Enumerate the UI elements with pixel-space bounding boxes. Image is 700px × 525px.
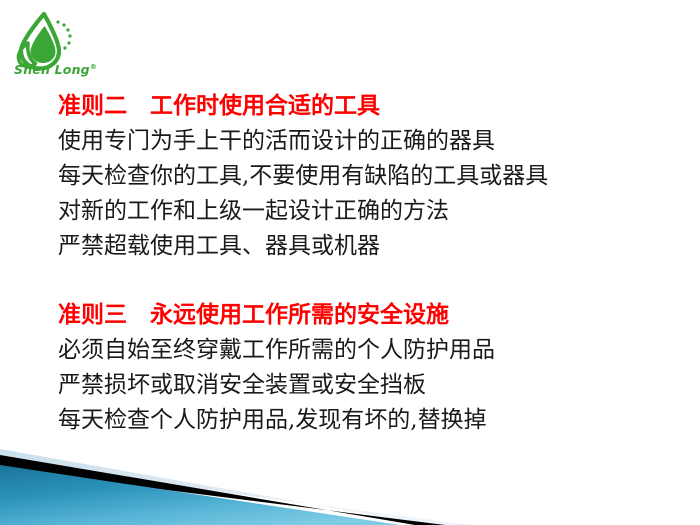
logo: Shen Long®: [8, 10, 90, 82]
diagonal-ribbon-decoration-icon: [0, 435, 700, 525]
slide-body: 准则二 工作时使用合适的工具 使用专门为手上干的活而设计的正确的器具 每天检查你…: [58, 88, 688, 438]
rule-line: 每天检查个人防护用品,发现有坏的,替换掉: [58, 403, 688, 438]
rule-heading-two: 准则二 工作时使用合适的工具: [58, 88, 688, 124]
logo-wordmark: Shen Long®: [14, 62, 97, 77]
rule-line: 对新的工作和上级一起设计正确的方法: [58, 194, 688, 229]
rule-heading-three: 准则三 永远使用工作所需的安全设施: [58, 297, 688, 333]
rule-line: 每天检查你的工具,不要使用有缺陷的工具或器具: [58, 159, 688, 194]
rule-line: 必须自始至终穿戴工作所需的个人防护用品: [58, 333, 688, 368]
rule-block-three: 准则三 永远使用工作所需的安全设施 必须自始至终穿戴工作所需的个人防护用品 严禁…: [58, 297, 688, 438]
rule-block-two: 准则二 工作时使用合适的工具 使用专门为手上干的活而设计的正确的器具 每天检查你…: [58, 88, 688, 264]
registered-mark: ®: [90, 63, 97, 71]
slide: Shen Long® 准则二 工作时使用合适的工具 使用专门为手上干的活而设计的…: [0, 0, 700, 525]
block-spacer: [58, 264, 688, 297]
rule-line: 使用专门为手上干的活而设计的正确的器具: [58, 124, 688, 159]
rule-line: 严禁超载使用工具、器具或机器: [58, 229, 688, 264]
rule-line: 严禁损坏或取消安全装置或安全挡板: [58, 368, 688, 403]
footer-decoration: [0, 435, 700, 525]
logo-brand-text: Shen Long: [14, 62, 90, 77]
